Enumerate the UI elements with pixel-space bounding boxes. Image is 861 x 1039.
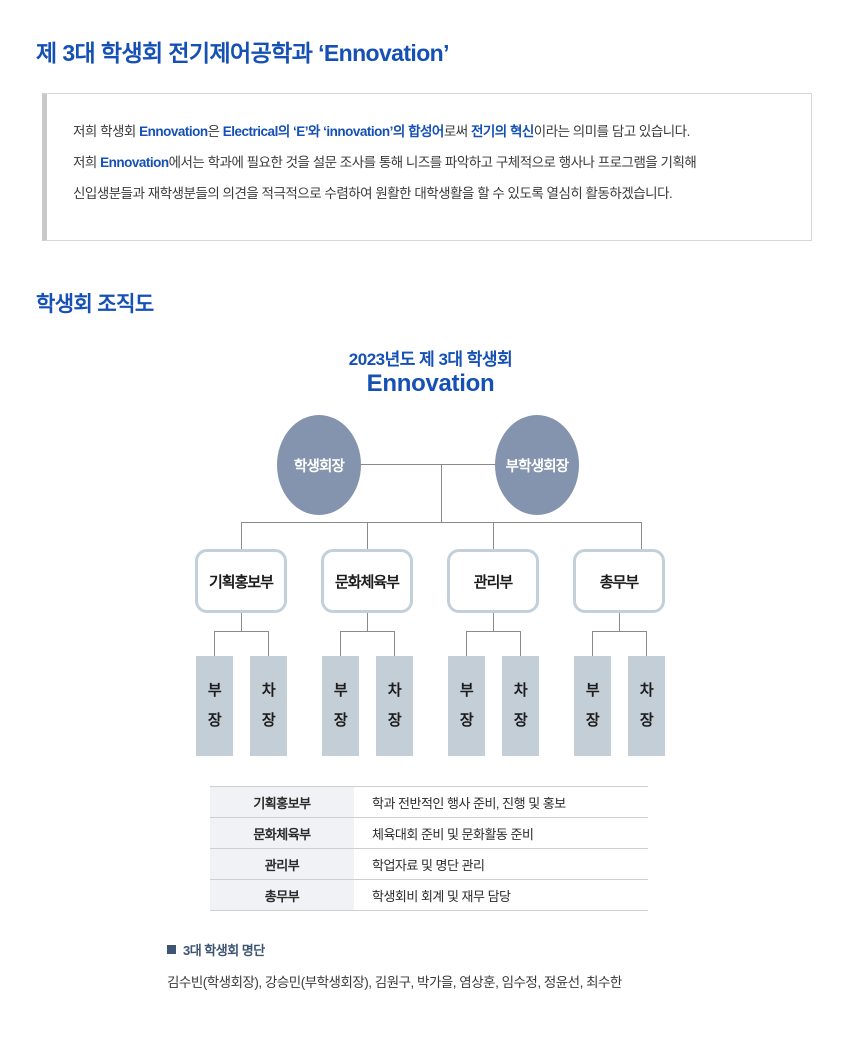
roster-heading: 3대 학생회 명단 xyxy=(167,940,767,959)
roster-heading-label: 3대 학생회 명단 xyxy=(183,940,265,959)
table-row: 기획홍보부학과 전반적인 행사 준비, 진행 및 홍보 xyxy=(210,787,648,818)
node-dept-general-affairs-label: 총무부 xyxy=(600,571,638,592)
staff-char-1: 차 xyxy=(262,676,275,706)
node-vice-president-label: 부학생회장 xyxy=(506,455,569,476)
node-vice-president: 부학생회장 xyxy=(495,415,579,515)
staff-char-1: 부 xyxy=(460,676,473,706)
table-row: 총무부학생회비 회계 및 재무 담당 xyxy=(210,880,648,911)
connector-staff-drop-0a xyxy=(214,631,215,656)
connector-staff-drop-0b xyxy=(268,631,269,656)
node-dept-planning-pr: 기획홍보부 xyxy=(195,549,287,613)
org-chart-subtitle: 2023년도 제 3대 학생회 xyxy=(0,345,861,370)
connector-staff-drop-1b xyxy=(394,631,395,656)
table-cell-dept: 총무부 xyxy=(210,880,354,911)
table-cell-duty: 학과 전반적인 행사 준비, 진행 및 홍보 xyxy=(354,787,648,818)
connector-dept-drop-3 xyxy=(641,522,642,550)
connector-dept-drop-0 xyxy=(241,522,242,550)
connector-staff-drop-3a xyxy=(592,631,593,656)
staff-char-1: 부 xyxy=(208,676,221,706)
staff-char-2: 장 xyxy=(334,706,347,736)
staff-char-1: 차 xyxy=(640,676,653,706)
staff-char-2: 장 xyxy=(262,706,275,736)
node-dept-culture-sports-label: 문화체육부 xyxy=(335,571,399,592)
node-staff-chajang-2: 차 장 xyxy=(502,656,539,756)
table-cell-duty: 학생회비 회계 및 재무 담당 xyxy=(354,880,648,911)
connector-dept-drop-1 xyxy=(367,522,368,550)
staff-char-2: 장 xyxy=(388,706,401,736)
org-chart-title: Ennovation xyxy=(0,370,861,398)
intro-line: 저희 Ennovation에서는 학과에 필요한 것을 설문 조사를 통해 니즈… xyxy=(73,147,785,178)
section-heading-org-chart: 학생회 조직도 xyxy=(36,288,154,318)
page-title-brand: ‘Ennovation’ xyxy=(318,40,449,66)
staff-char-2: 장 xyxy=(460,706,473,736)
table-row: 문화체육부체육대회 준비 및 문화활동 준비 xyxy=(210,818,648,849)
staff-char-2: 장 xyxy=(640,706,653,736)
page-title-dept: 전기제어공학과 xyxy=(168,40,318,66)
intro-text: 은 xyxy=(208,124,223,139)
node-student-president: 학생회장 xyxy=(277,415,361,515)
connector-staff-drop-2a xyxy=(466,631,467,656)
connector-staff-drop-2b xyxy=(520,631,521,656)
node-student-president-label: 학생회장 xyxy=(294,455,344,476)
intro-line: 저희 학생회 Ennovation은 Electrical의 ‘E’와 ‘inn… xyxy=(73,116,785,147)
node-staff-bujang-2: 부 장 xyxy=(448,656,485,756)
connector-staff-stem-3 xyxy=(619,613,620,631)
node-dept-management: 관리부 xyxy=(447,549,539,613)
node-staff-bujang-1: 부 장 xyxy=(322,656,359,756)
connector-staff-stem-1 xyxy=(367,613,368,631)
table-cell-duty: 학업자료 및 명단 관리 xyxy=(354,849,648,880)
connector-staff-drop-1a xyxy=(340,631,341,656)
connector-staff-drop-3b xyxy=(646,631,647,656)
node-staff-chajang-3: 차 장 xyxy=(628,656,665,756)
node-dept-management-label: 관리부 xyxy=(474,571,512,592)
intro-text: 신입생분들과 재학생분들의 의견을 적극적으로 수렴하여 원활한 대학생활을 할… xyxy=(73,186,672,201)
intro-line: 신입생분들과 재학생분들의 의견을 적극적으로 수렴하여 원활한 대학생활을 할… xyxy=(73,178,785,209)
intro-text: 저희 xyxy=(73,155,100,170)
connector-staff-bus-0 xyxy=(214,631,269,632)
node-staff-bujang-0: 부 장 xyxy=(196,656,233,756)
connector-dept-drop-2 xyxy=(493,522,494,550)
connector-staff-stem-0 xyxy=(241,613,242,631)
staff-char-2: 장 xyxy=(514,706,527,736)
page-title: 제 3대 학생회 전기제어공학과 ‘Ennovation’ xyxy=(36,34,449,68)
node-dept-culture-sports: 문화체육부 xyxy=(321,549,413,613)
node-staff-chajang-1: 차 장 xyxy=(376,656,413,756)
intro-text: 이라는 의미를 담고 있습니다. xyxy=(534,124,690,139)
connector-staff-bus-2 xyxy=(466,631,521,632)
table-cell-duty: 체육대회 준비 및 문화활동 준비 xyxy=(354,818,648,849)
staff-char-1: 차 xyxy=(514,676,527,706)
dept-role-table: 기획홍보부학과 전반적인 행사 준비, 진행 및 홍보문화체육부체육대회 준비 … xyxy=(210,786,648,911)
node-staff-chajang-0: 차 장 xyxy=(250,656,287,756)
intro-highlight: Ennovation xyxy=(100,155,169,170)
intro-text: 에서는 학과에 필요한 것을 설문 조사를 통해 니즈를 파악하고 구체적으로 … xyxy=(169,155,697,170)
table-cell-dept: 관리부 xyxy=(210,849,354,880)
intro-panel: 저희 학생회 Ennovation은 Electrical의 ‘E’와 ‘inn… xyxy=(42,93,812,241)
connector-staff-bus-1 xyxy=(340,631,395,632)
node-dept-planning-pr-label: 기획홍보부 xyxy=(209,571,273,592)
table-row: 관리부학업자료 및 명단 관리 xyxy=(210,849,648,880)
intro-text-container: 저희 학생회 Ennovation은 Electrical의 ‘E’와 ‘inn… xyxy=(47,94,811,209)
node-staff-bujang-3: 부 장 xyxy=(574,656,611,756)
connector-spine-vertical xyxy=(441,464,442,522)
staff-char-2: 장 xyxy=(208,706,221,736)
intro-highlight: 전기의 혁신 xyxy=(471,124,534,139)
org-chart: 2023년도 제 3대 학생회 Ennovation xyxy=(0,336,861,786)
connector-leadership-horizontal xyxy=(360,464,497,465)
connector-staff-bus-3 xyxy=(592,631,647,632)
intro-text: 로써 xyxy=(444,124,471,139)
connector-staff-stem-2 xyxy=(493,613,494,631)
intro-highlight: Electrical의 ‘E’와 ‘innovation’의 합성어 xyxy=(223,124,444,139)
staff-char-1: 부 xyxy=(334,676,347,706)
intro-highlight: Ennovation xyxy=(139,124,208,139)
intro-text: 저희 학생회 xyxy=(73,124,139,139)
bullet-square-icon xyxy=(167,945,176,954)
roster-section: 3대 학생회 명단 김수빈(학생회장), 강승민(부학생회장), 김원구, 박가… xyxy=(167,940,767,991)
node-dept-general-affairs: 총무부 xyxy=(573,549,665,613)
table-cell-dept: 문화체육부 xyxy=(210,818,354,849)
page-title-prefix: 제 3대 학생회 xyxy=(36,40,168,66)
connector-dept-bus xyxy=(241,522,642,523)
table-cell-dept: 기획홍보부 xyxy=(210,787,354,818)
roster-names: 김수빈(학생회장), 강승민(부학생회장), 김원구, 박가을, 염상훈, 임수… xyxy=(167,971,767,991)
staff-char-2: 장 xyxy=(586,706,599,736)
staff-char-1: 부 xyxy=(586,676,599,706)
staff-char-1: 차 xyxy=(388,676,401,706)
